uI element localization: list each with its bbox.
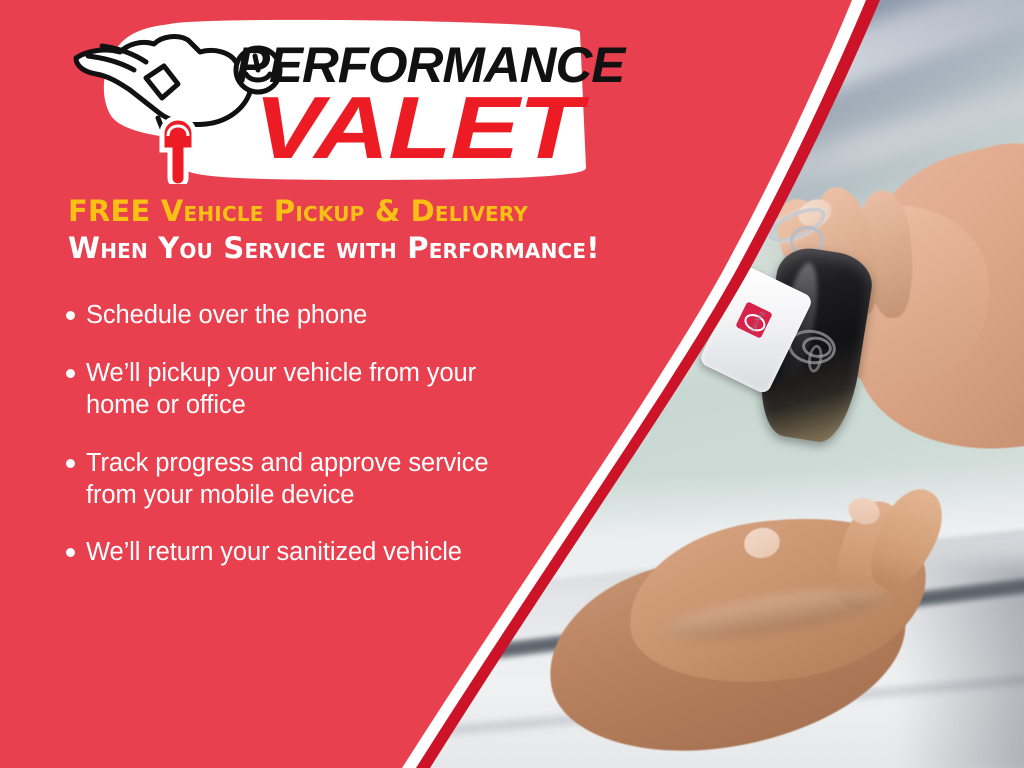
list-item: Schedule over the phone [66,300,536,332]
key-icon [162,118,194,184]
bullet-dot-icon [66,548,75,557]
bullet-dot-icon [66,369,75,378]
bullet-text: We’ll return your sanitized vehicle [86,537,462,569]
list-item: Track progress and approve service from … [66,448,536,512]
bullet-text: Schedule over the phone [86,300,367,332]
bullet-text: Track progress and approve service from … [86,448,536,512]
headline-line-1: FREE Vehicle Pickup & Delivery [68,194,688,228]
headline-block: FREE Vehicle Pickup & Delivery When You … [68,194,688,265]
performance-valet-logo: PERFORMANCE VALET [58,18,588,184]
promo-banner: Toyota [0,0,1024,768]
benefits-list: Schedule over the phone We’ll pickup you… [66,300,536,595]
bullet-text: We’ll pickup your vehicle from your home… [86,358,536,422]
bullet-dot-icon [66,459,75,468]
logo-valet-text: VALET [254,86,682,170]
list-item: We’ll return your sanitized vehicle [66,537,536,569]
headline-line-2: When You Service with Performance! [68,231,688,265]
bullet-dot-icon [66,311,75,320]
list-item: We’ll pickup your vehicle from your home… [66,358,536,422]
logo-wordmark: PERFORMANCE VALET [236,40,617,170]
